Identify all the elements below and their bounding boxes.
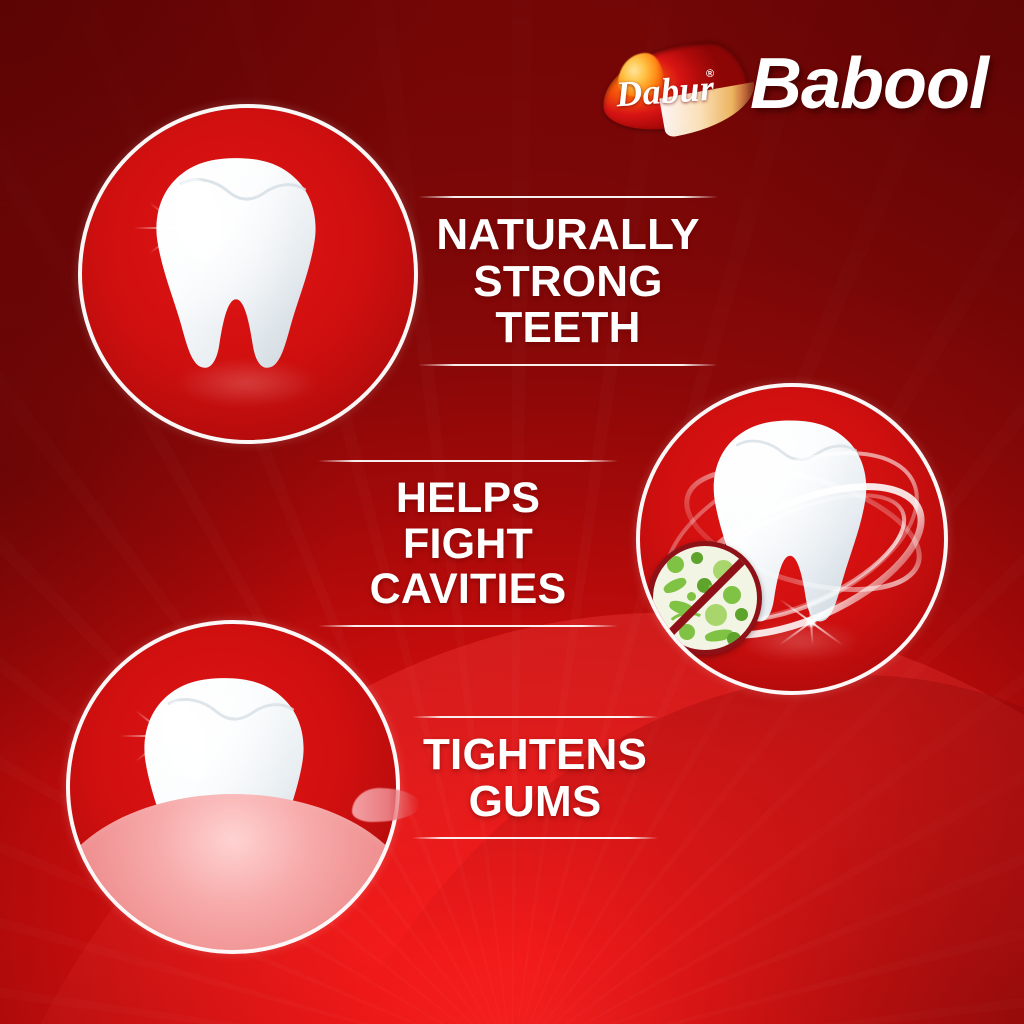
advertisement-canvas: Dabur ® Babool xyxy=(0,0,1024,1024)
feature-image-naturally-strong-teeth xyxy=(78,104,418,444)
no-bacteria-badge-icon xyxy=(648,541,762,655)
trademark-symbol: ® xyxy=(706,68,715,81)
brand-logo-lockup: Dabur ® Babool xyxy=(602,44,988,128)
divider-bottom xyxy=(412,837,658,839)
feature-image-helps-fight-cavities xyxy=(636,383,948,695)
circle-3-inner xyxy=(70,624,396,950)
dabur-leaf-flame-logo-icon: Dabur ® xyxy=(602,44,748,128)
tooth-icon xyxy=(138,150,334,376)
feature-label: TIGHTENS GUMS xyxy=(412,718,658,837)
feature-text-tightens-gums: TIGHTENS GUMS xyxy=(412,716,658,839)
feature-label: NATURALLY STRONG TEETH xyxy=(418,198,718,364)
feature-text-naturally-strong-teeth: NATURALLY STRONG TEETH xyxy=(418,196,718,366)
dabur-wordmark: Dabur xyxy=(615,67,716,116)
divider-bottom xyxy=(418,364,718,366)
feature-label: HELPS FIGHT CAVITIES xyxy=(318,462,618,625)
babool-wordmark: Babool xyxy=(750,48,988,124)
feature-text-helps-fight-cavities: HELPS FIGHT CAVITIES xyxy=(318,460,618,627)
circle-1-inner xyxy=(82,108,414,440)
divider-bottom xyxy=(318,625,618,627)
circle-2-inner xyxy=(640,387,944,691)
feature-image-tightens-gums xyxy=(66,620,400,954)
